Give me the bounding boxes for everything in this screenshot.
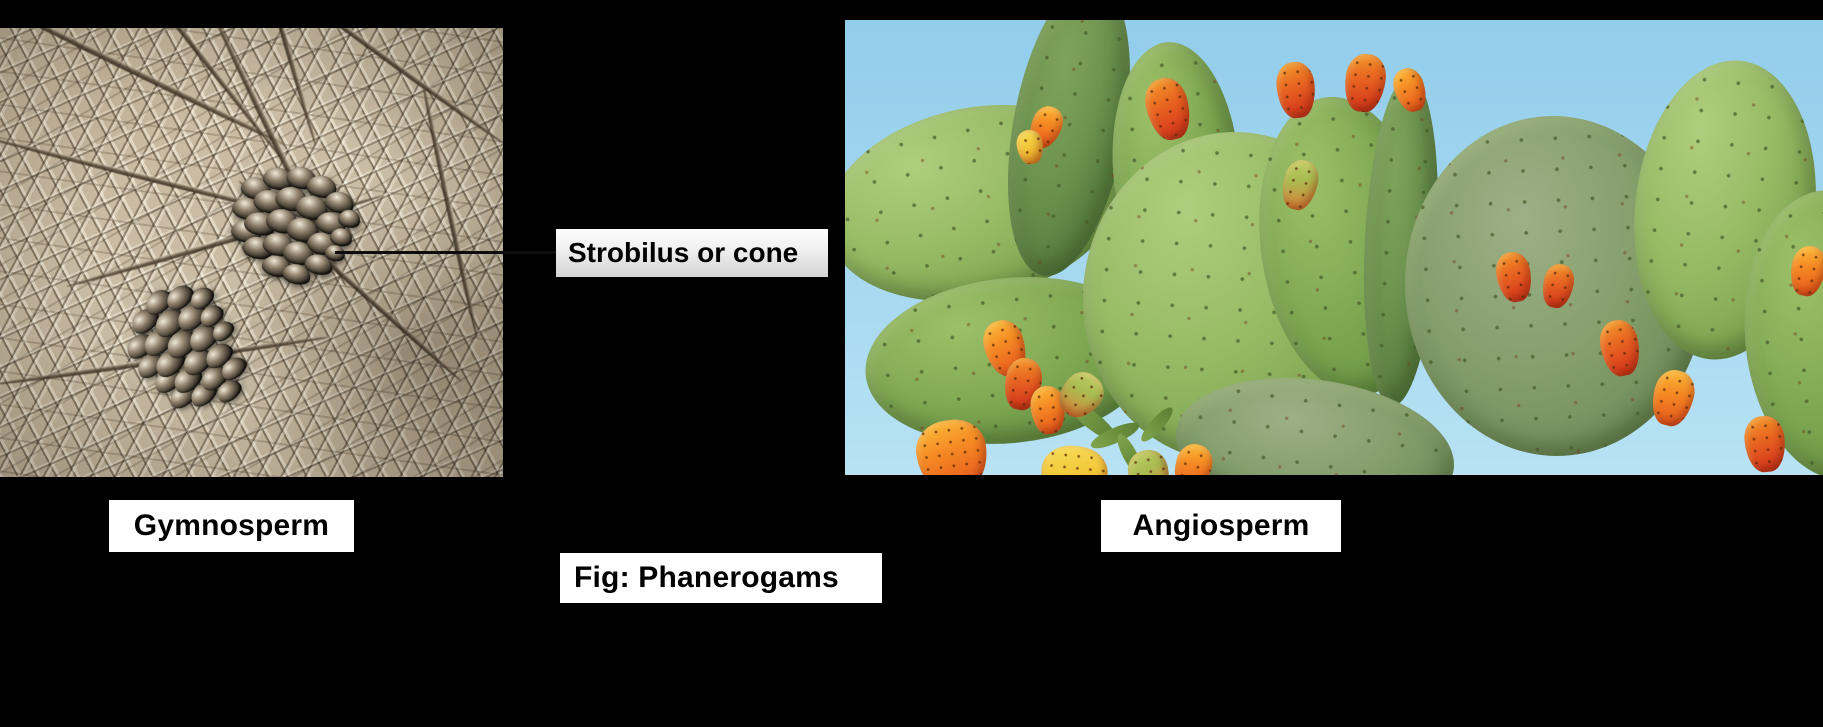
callout-label-strobilus: Strobilus or cone	[556, 229, 828, 277]
callout-leader-line	[335, 251, 557, 254]
figure-caption: Fig: Phanerogams	[560, 553, 882, 603]
panel-label-angiosperm: Angiosperm	[1101, 500, 1341, 552]
panel-label-gymnosperm: Gymnosperm	[109, 500, 354, 552]
angiosperm-image	[845, 20, 1823, 475]
figure-canvas: Strobilus or cone	[0, 0, 1823, 727]
